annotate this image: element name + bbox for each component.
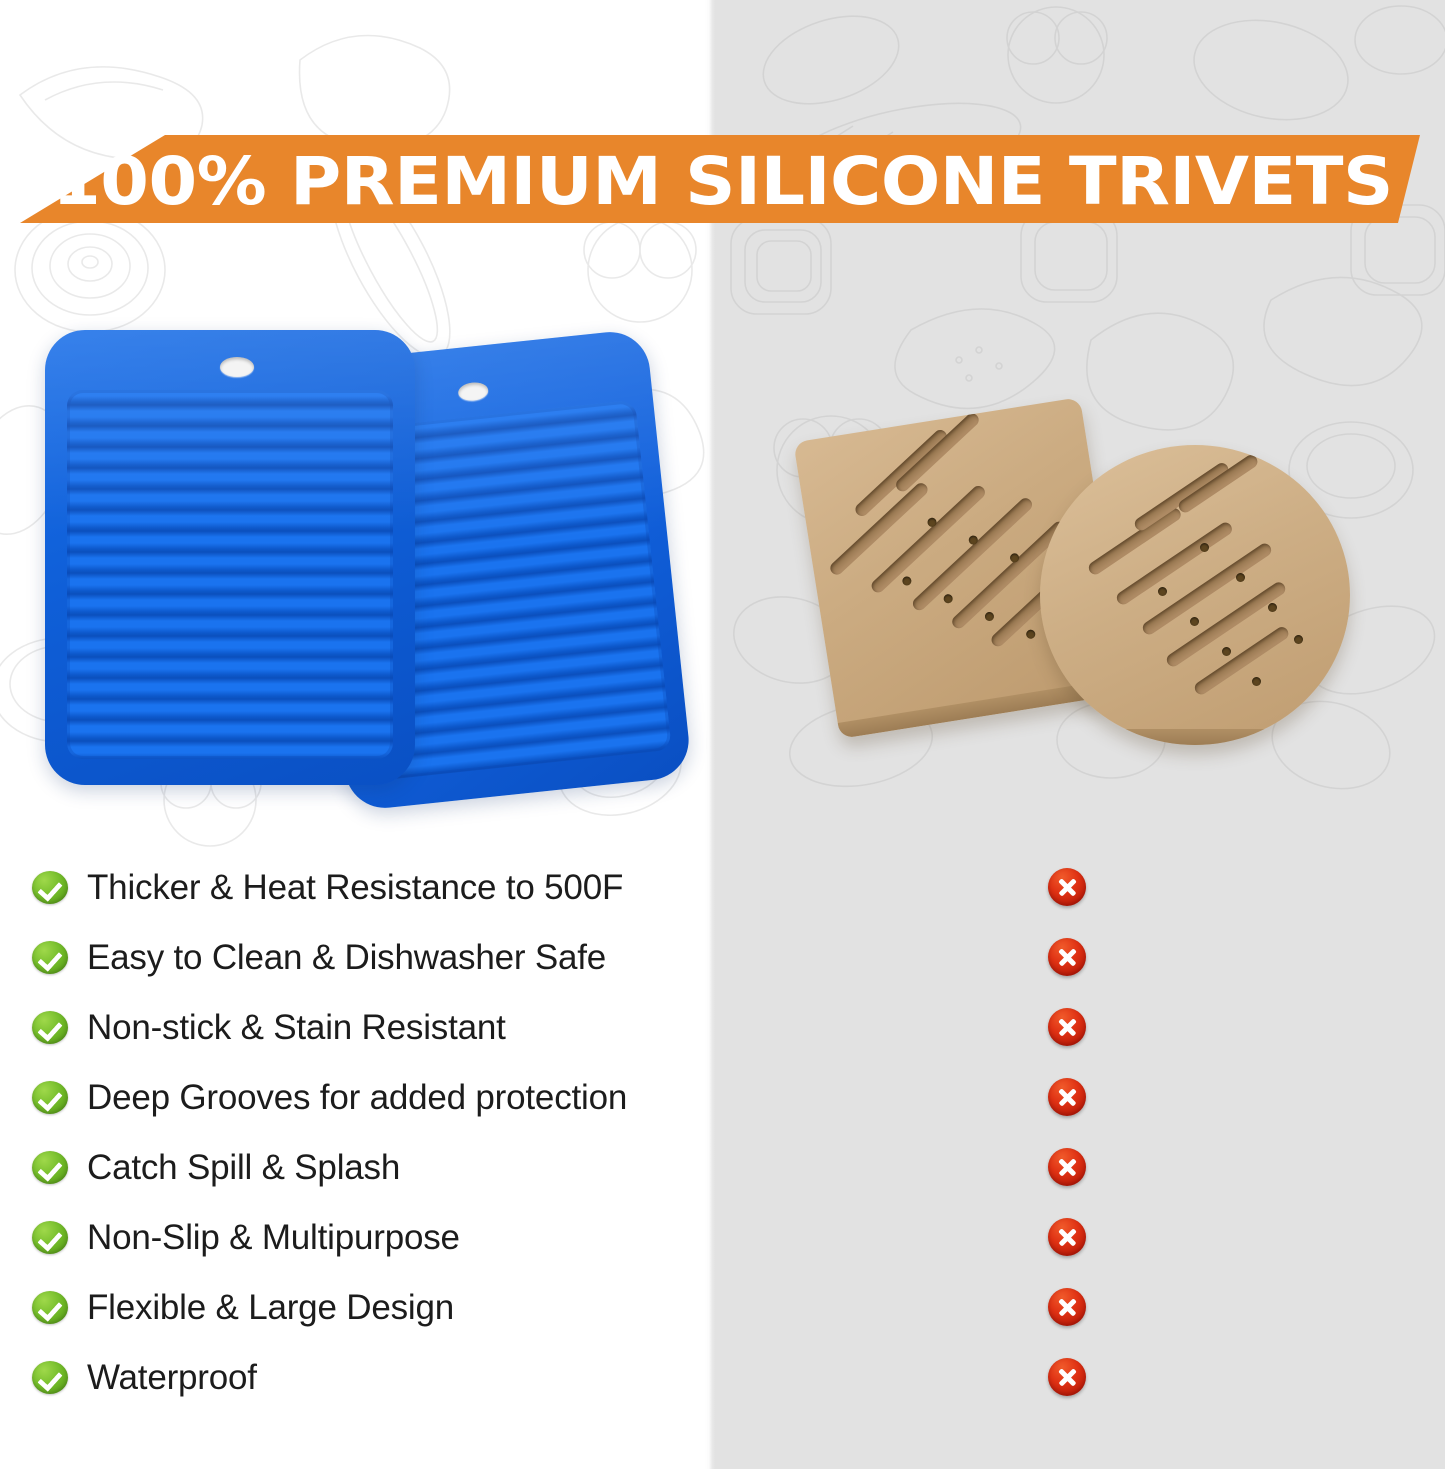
negative-row [1048, 1272, 1168, 1342]
feature-label: Deep Grooves for added protection [87, 1080, 627, 1115]
cross-icon [1048, 868, 1086, 906]
hanging-hole-back [457, 381, 489, 402]
bamboo-round-slots [1040, 445, 1350, 745]
cross-icon [1048, 1218, 1086, 1256]
negative-row [1048, 922, 1168, 992]
cross-icon [1048, 1288, 1086, 1326]
negative-row [1048, 1202, 1168, 1272]
check-icon [32, 1291, 68, 1324]
cross-icon [1048, 1008, 1086, 1046]
cross-icon [1048, 1148, 1086, 1186]
check-icon [32, 1221, 68, 1254]
feature-row: Non-stick & Stain Resistant [32, 992, 692, 1062]
blue-trivet-front [45, 330, 415, 785]
blue-trivet-front-ribs [67, 390, 393, 759]
bamboo-trivets-image [795, 400, 1395, 780]
negative-row [1048, 992, 1168, 1062]
feature-row: Thicker & Heat Resistance to 500F [32, 852, 692, 922]
check-icon [32, 941, 68, 974]
cross-icon [1048, 1358, 1086, 1396]
feature-list: Thicker & Heat Resistance to 500F Easy t… [32, 852, 692, 1412]
check-icon [32, 1361, 68, 1394]
bamboo-round-edge [1040, 729, 1350, 745]
bamboo-trivet-round [1040, 445, 1350, 745]
negative-row [1048, 1062, 1168, 1132]
negative-row [1048, 1342, 1168, 1412]
banner-title-text: 100% PREMIUM SILICONE TRIVETS [0, 127, 1445, 235]
feature-row: Non-Slip & Multipurpose [32, 1202, 692, 1272]
feature-label: Non-Slip & Multipurpose [87, 1220, 460, 1255]
check-icon [32, 1151, 68, 1184]
hanging-hole-front [220, 357, 254, 377]
feature-label: Flexible & Large Design [87, 1290, 454, 1325]
negative-list [1048, 852, 1168, 1412]
cross-icon [1048, 1078, 1086, 1116]
negative-row [1048, 1132, 1168, 1202]
feature-row: Easy to Clean & Dishwasher Safe [32, 922, 692, 992]
blue-silicone-trivets-image [25, 315, 685, 805]
feature-label: Thicker & Heat Resistance to 500F [87, 870, 623, 905]
feature-row: Catch Spill & Splash [32, 1132, 692, 1202]
feature-label: Easy to Clean & Dishwasher Safe [87, 940, 606, 975]
feature-row: Deep Grooves for added protection [32, 1062, 692, 1132]
infographic-page: 100% PREMIUM SILICONE TRIVETS Thicker & … [0, 0, 1445, 1469]
feature-row: Waterproof [32, 1342, 692, 1412]
feature-label: Waterproof [87, 1360, 257, 1395]
check-icon [32, 871, 68, 904]
feature-label: Catch Spill & Splash [87, 1150, 400, 1185]
negative-row [1048, 852, 1168, 922]
title-banner: 100% PREMIUM SILICONE TRIVETS [0, 135, 1445, 235]
check-icon [32, 1081, 68, 1114]
feature-row: Flexible & Large Design [32, 1272, 692, 1342]
check-icon [32, 1011, 68, 1044]
feature-label: Non-stick & Stain Resistant [87, 1010, 506, 1045]
cross-icon [1048, 938, 1086, 976]
